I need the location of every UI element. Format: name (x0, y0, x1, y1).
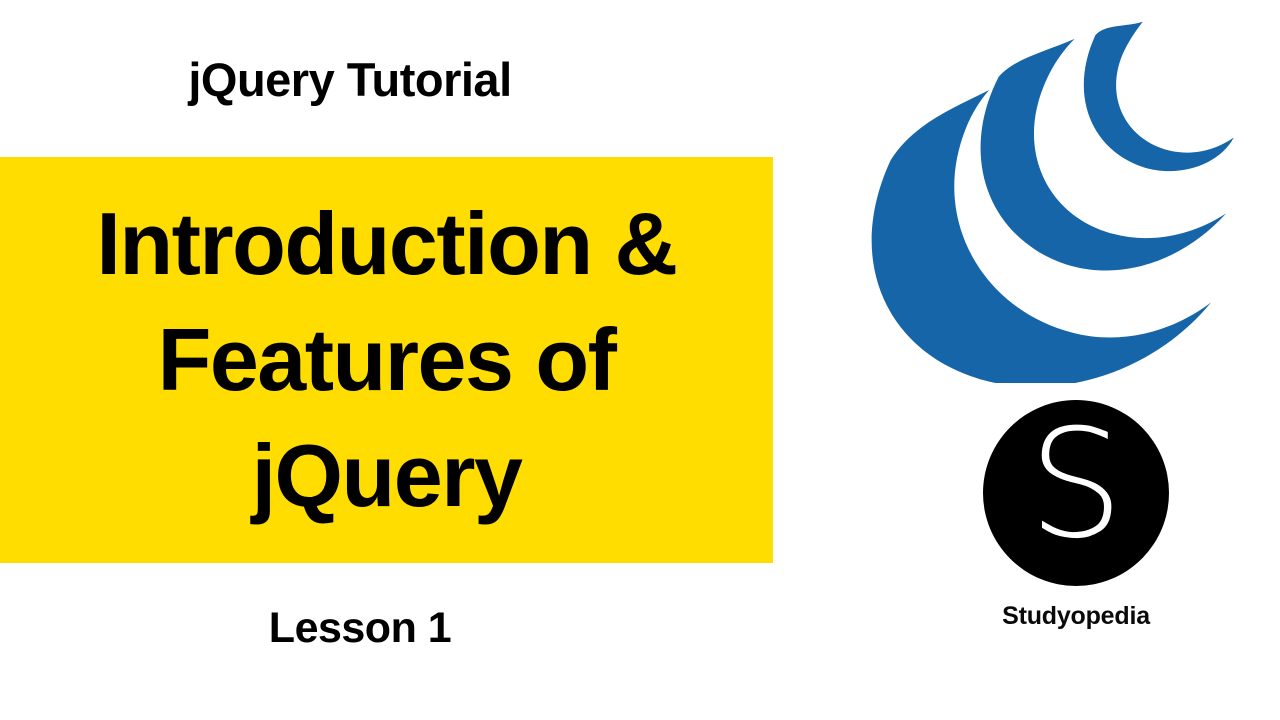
jquery-logo-icon (858, 18, 1238, 383)
left-content-column: jQuery Tutorial Introduction & Features … (0, 0, 790, 720)
lesson-label: Lesson 1 (0, 604, 720, 653)
right-branding-column: S Studyopedia (790, 0, 1280, 720)
banner-line-1: Introduction & (96, 186, 676, 302)
course-title: jQuery Tutorial (0, 54, 700, 106)
studyopedia-logo-icon: S (983, 400, 1169, 586)
studyopedia-monogram-letter: S (1028, 410, 1123, 560)
banner-line-2: Features of (158, 302, 616, 418)
studyopedia-brand-name: Studyopedia (1002, 602, 1150, 631)
banner-line-3: jQuery (252, 418, 522, 534)
title-banner: Introduction & Features of jQuery (0, 157, 773, 563)
slide-canvas: jQuery Tutorial Introduction & Features … (0, 0, 1280, 720)
studyopedia-brand: S Studyopedia (790, 400, 1280, 631)
